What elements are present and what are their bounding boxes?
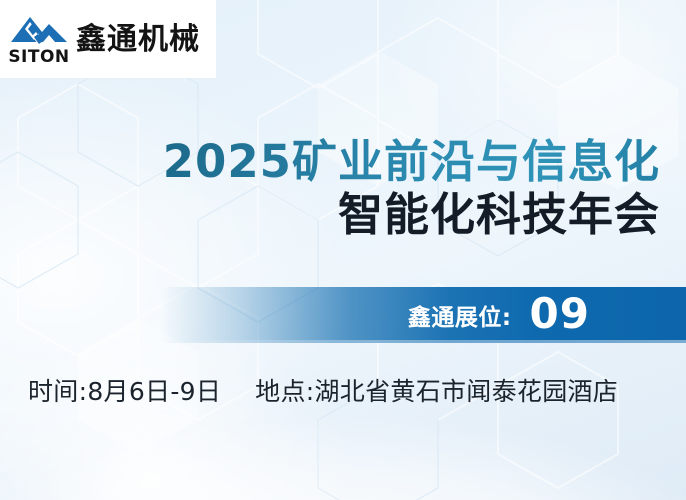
svg-text:SITON: SITON [8,47,69,67]
headline-line-1: 2025矿业前沿与信息化 [0,138,660,186]
booth-banner: 鑫通展位: 09 [160,287,686,343]
brand-name-chinese: 鑫通机械 [76,25,200,55]
event-location: 地点:湖北省黄石市闻泰花园酒店 [255,372,618,408]
background-glow-bottom-left [0,330,360,500]
booth-number: 09 [530,293,590,335]
mountain-logo-icon: SITON [8,10,70,68]
booth-label: 鑫通展位: [408,298,512,332]
event-time: 时间:8月6日-9日 [28,372,221,408]
event-poster: SITON 鑫通机械 2025矿业前沿与信息化 智能化科技年会 鑫通展位: 09… [0,0,686,500]
brand-logo: SITON 鑫通机械 [0,0,216,78]
event-info-row: 时间:8月6日-9日 地点:湖北省黄石市闻泰花园酒店 [28,372,664,408]
headline-line-2: 智能化科技年会 [0,190,660,240]
headline-block: 2025矿业前沿与信息化 智能化科技年会 [0,138,660,239]
